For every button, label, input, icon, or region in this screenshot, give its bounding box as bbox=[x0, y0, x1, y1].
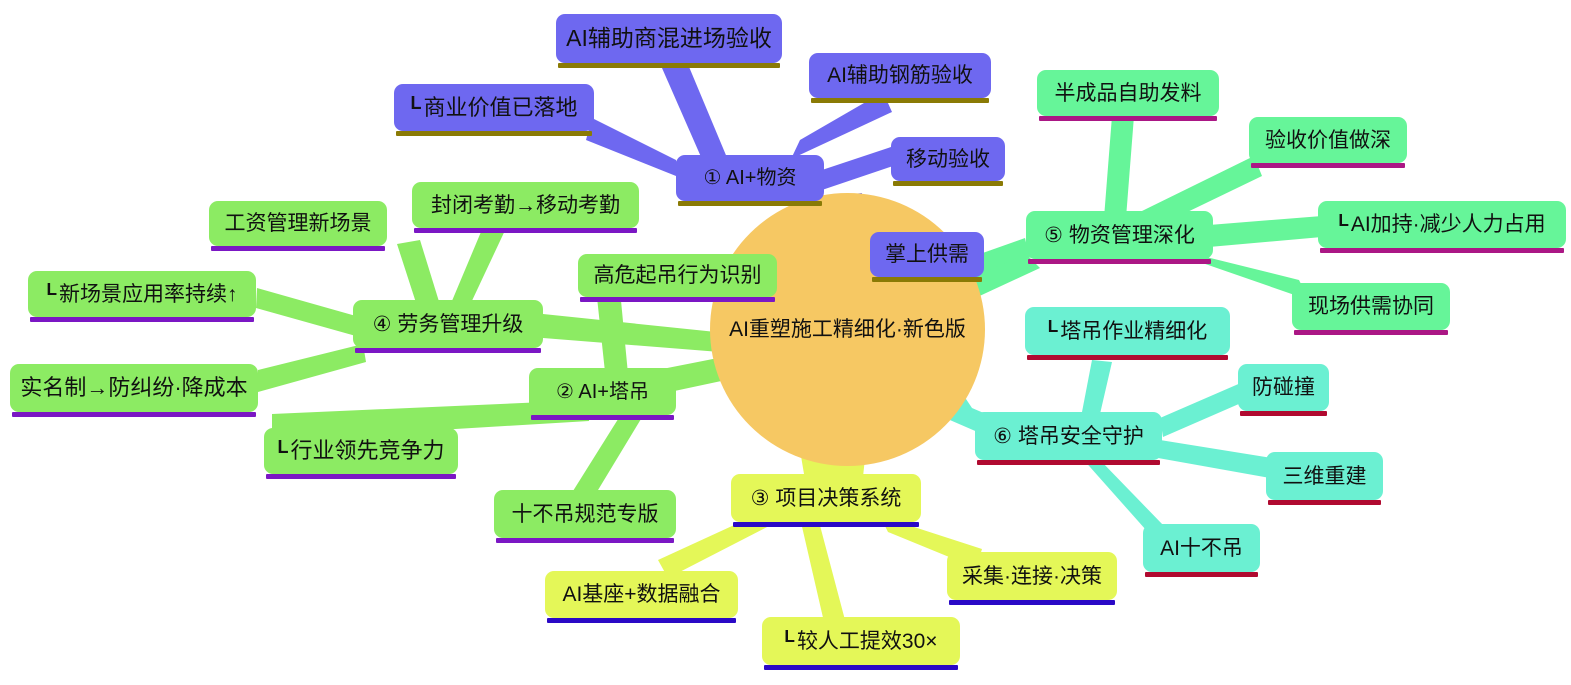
branch-5-child-4[interactable]: 现场供需协同 bbox=[1292, 283, 1450, 330]
branch-2-child-1-label: 高危起吊行为识别 bbox=[592, 265, 764, 286]
branch-6-child-1-label: L塔吊作业精细化 bbox=[1046, 321, 1210, 342]
branch-1-child-2[interactable]: L商业价值已落地 bbox=[394, 84, 594, 131]
branch-3-child-1[interactable]: AI基座+数据融合 bbox=[545, 571, 738, 618]
branch-1-child-3-label: AI辅助钢筋验收 bbox=[825, 65, 975, 86]
branch-1-child-2-underline bbox=[396, 131, 592, 136]
leaf-marker-icon: L bbox=[410, 93, 421, 113]
edge-b1root-c4 bbox=[822, 147, 893, 190]
edge-b1root-c2 bbox=[586, 118, 681, 178]
branch-5-child-2-label: 验收价值做深 bbox=[1263, 130, 1393, 151]
branch-5-child-1[interactable]: 半成品自助发料 bbox=[1037, 70, 1219, 116]
branch-1-root-label: ① AI+物资 bbox=[702, 168, 799, 188]
branch-2-root[interactable]: ② AI+塔吊 bbox=[529, 368, 676, 415]
branch-1-child-2-text: 商业价值已落地 bbox=[424, 95, 578, 120]
branch-6-child-4-label: AI十不吊 bbox=[1158, 538, 1245, 559]
leaf-marker-icon: L bbox=[277, 437, 288, 457]
branch-3-child-2-underline bbox=[764, 665, 958, 670]
branch-3-child-3[interactable]: 采集·连接·决策 bbox=[947, 552, 1117, 600]
edge-b6root-c4 bbox=[1082, 458, 1164, 530]
branch-4-child-1[interactable]: 工资管理新场景 bbox=[209, 201, 387, 246]
branch-4-child-3-label: L新场景应用率持续↑ bbox=[44, 284, 239, 305]
branch-4-child-2-label: 封闭考勤→移动考勤 bbox=[429, 195, 622, 216]
branch-3-root-underline bbox=[733, 522, 919, 527]
branch-4-root[interactable]: ④ 劳务管理升级 bbox=[353, 300, 543, 348]
branch-4-child-1-label: 工资管理新场景 bbox=[223, 213, 374, 234]
branch-6-child-1-underline bbox=[1027, 355, 1228, 360]
branch-3-child-2-label: L较人工提效30× bbox=[782, 631, 939, 652]
branch-1-child-4[interactable]: 移动验收 bbox=[891, 137, 1005, 181]
branch-2-child-2-label: L行业领先竞争力 bbox=[275, 440, 446, 462]
branch-4-child-2[interactable]: 封闭考勤→移动考勤 bbox=[412, 182, 639, 228]
branch-5-root-underline bbox=[1028, 259, 1211, 264]
branch-6-root-label: ⑥ 塔吊安全守护 bbox=[991, 426, 1146, 447]
branch-2-root-underline bbox=[531, 415, 674, 420]
hub-label: AI重塑施工精细化·新色版 bbox=[729, 319, 966, 340]
branch-6-child-3-underline bbox=[1268, 500, 1381, 505]
branch-1-child-2-label: L商业价值已落地 bbox=[408, 97, 579, 119]
branch-1-child-5-label: 掌上供需 bbox=[883, 244, 971, 265]
branch-5-child-1-label: 半成品自助发料 bbox=[1053, 83, 1204, 104]
branch-6-child-2[interactable]: 防碰撞 bbox=[1238, 364, 1329, 411]
branch-5-child-3-underline bbox=[1320, 248, 1564, 253]
branch-3-child-1-label: AI基座+数据融合 bbox=[560, 584, 722, 605]
branch-4-root-label: ④ 劳务管理升级 bbox=[371, 314, 526, 335]
branch-5-child-2[interactable]: 验收价值做深 bbox=[1249, 117, 1407, 163]
branch-4-child-1-underline bbox=[211, 246, 385, 251]
branch-5-child-3-label: LAI加持·减少人力占用 bbox=[1336, 214, 1547, 235]
branch-2-child-2-underline bbox=[266, 474, 456, 479]
branch-6-root-underline bbox=[977, 460, 1160, 465]
branch-1-child-1-label: AI辅助商混进场验收 bbox=[564, 27, 774, 50]
branch-3-child-3-underline bbox=[949, 600, 1115, 605]
edge-b4root-c3 bbox=[256, 288, 363, 338]
edge-b5root-c3 bbox=[1209, 216, 1322, 247]
branch-1-child-5-underline bbox=[872, 277, 982, 282]
branch-1-child-4-underline bbox=[893, 181, 1003, 186]
branch-1-child-1[interactable]: AI辅助商混进场验收 bbox=[556, 14, 782, 63]
leaf-marker-icon: L bbox=[46, 279, 57, 299]
branch-5-child-2-underline bbox=[1251, 163, 1405, 168]
branch-4-child-2-underline bbox=[414, 228, 637, 233]
edge-b6root-c3 bbox=[1158, 440, 1272, 478]
edge-b4root-c2 bbox=[449, 220, 508, 308]
branch-5-child-3[interactable]: LAI加持·减少人力占用 bbox=[1318, 201, 1566, 248]
edge-b1root-c1 bbox=[662, 62, 728, 166]
branch-6-child-3-label: 三维重建 bbox=[1281, 466, 1369, 487]
branch-5-root[interactable]: ⑤ 物资管理深化 bbox=[1026, 211, 1213, 259]
branch-5-root-label: ⑤ 物资管理深化 bbox=[1042, 225, 1197, 246]
branch-4-child-3-underline bbox=[30, 317, 254, 322]
leaf-marker-icon: L bbox=[784, 626, 795, 646]
branch-3-child-2-text: 较人工提效30× bbox=[797, 630, 938, 653]
branch-1-child-3[interactable]: AI辅助钢筋验收 bbox=[809, 53, 991, 98]
branch-3-root-label: ③ 项目决策系统 bbox=[749, 488, 904, 509]
branch-3-child-3-label: 采集·连接·决策 bbox=[960, 566, 1104, 587]
branch-4-root-underline bbox=[355, 348, 541, 353]
edge-hub-b4root bbox=[543, 314, 720, 352]
branch-1-child-5[interactable]: 掌上供需 bbox=[870, 232, 984, 277]
branch-4-child-3-text: 新场景应用率持续↑ bbox=[59, 283, 238, 306]
branch-2-child-1-underline bbox=[580, 297, 775, 302]
branch-3-root[interactable]: ③ 项目决策系统 bbox=[731, 474, 921, 522]
branch-2-child-3-label: 十不吊规范专版 bbox=[510, 504, 661, 525]
branch-1-root-underline bbox=[678, 201, 822, 206]
branch-2-child-1[interactable]: 高危起吊行为识别 bbox=[578, 254, 777, 297]
branch-6-child-1[interactable]: L塔吊作业精细化 bbox=[1025, 307, 1230, 355]
branch-6-child-2-underline bbox=[1240, 411, 1327, 416]
branch-1-root[interactable]: ① AI+物资 bbox=[676, 155, 824, 201]
branch-2-child-3[interactable]: 十不吊规范专版 bbox=[494, 490, 676, 538]
branch-6-child-1-text: 塔吊作业精细化 bbox=[1060, 320, 1207, 343]
branch-1-child-4-label: 移动验收 bbox=[904, 149, 992, 170]
branch-2-root-label: ② AI+塔吊 bbox=[554, 382, 651, 402]
branch-4-child-3[interactable]: L新场景应用率持续↑ bbox=[28, 271, 256, 317]
edge-b2root-c3 bbox=[573, 416, 641, 495]
branch-6-child-4-underline bbox=[1145, 572, 1258, 577]
branch-5-child-4-label: 现场供需协同 bbox=[1306, 296, 1436, 317]
mindmap-canvas: AI重塑施工精细化·新色版 ① AI+物资 AI辅助商混进场验收 L商业价值已落… bbox=[0, 0, 1571, 685]
branch-5-child-3-text: AI加持·减少人力占用 bbox=[1351, 213, 1546, 236]
branch-1-child-1-underline bbox=[558, 63, 780, 68]
branch-4-child-4[interactable]: 实名制→防纠纷·降成本 bbox=[10, 364, 258, 412]
branch-1-child-3-underline bbox=[811, 98, 989, 103]
branch-2-child-3-underline bbox=[496, 538, 674, 543]
branch-6-child-4[interactable]: AI十不吊 bbox=[1143, 524, 1260, 572]
branch-3-child-2[interactable]: L较人工提效30× bbox=[762, 617, 960, 665]
edge-b6root-c2 bbox=[1160, 382, 1248, 437]
leaf-marker-icon: L bbox=[1338, 210, 1349, 230]
branch-2-child-2[interactable]: L行业领先竞争力 bbox=[264, 428, 458, 474]
branch-6-child-3[interactable]: 三维重建 bbox=[1266, 452, 1383, 500]
branch-2-child-2-text: 行业领先竞争力 bbox=[291, 438, 445, 463]
branch-4-child-4-label: 实名制→防纠纷·降成本 bbox=[18, 377, 249, 399]
edge-b4root-c4 bbox=[258, 344, 366, 392]
branch-5-child-4-underline bbox=[1294, 330, 1448, 335]
edge-b5root-c1 bbox=[1104, 116, 1134, 218]
edge-b3root-c2 bbox=[800, 518, 845, 622]
branch-6-child-2-label: 防碰撞 bbox=[1250, 377, 1317, 398]
branch-5-child-1-underline bbox=[1039, 116, 1217, 121]
leaf-marker-icon: L bbox=[1048, 316, 1059, 336]
branch-6-root[interactable]: ⑥ 塔吊安全守护 bbox=[975, 412, 1162, 460]
branch-3-child-1-underline bbox=[547, 618, 736, 623]
branch-4-child-4-underline bbox=[12, 412, 256, 417]
edge-b6root-c1 bbox=[1082, 360, 1112, 414]
